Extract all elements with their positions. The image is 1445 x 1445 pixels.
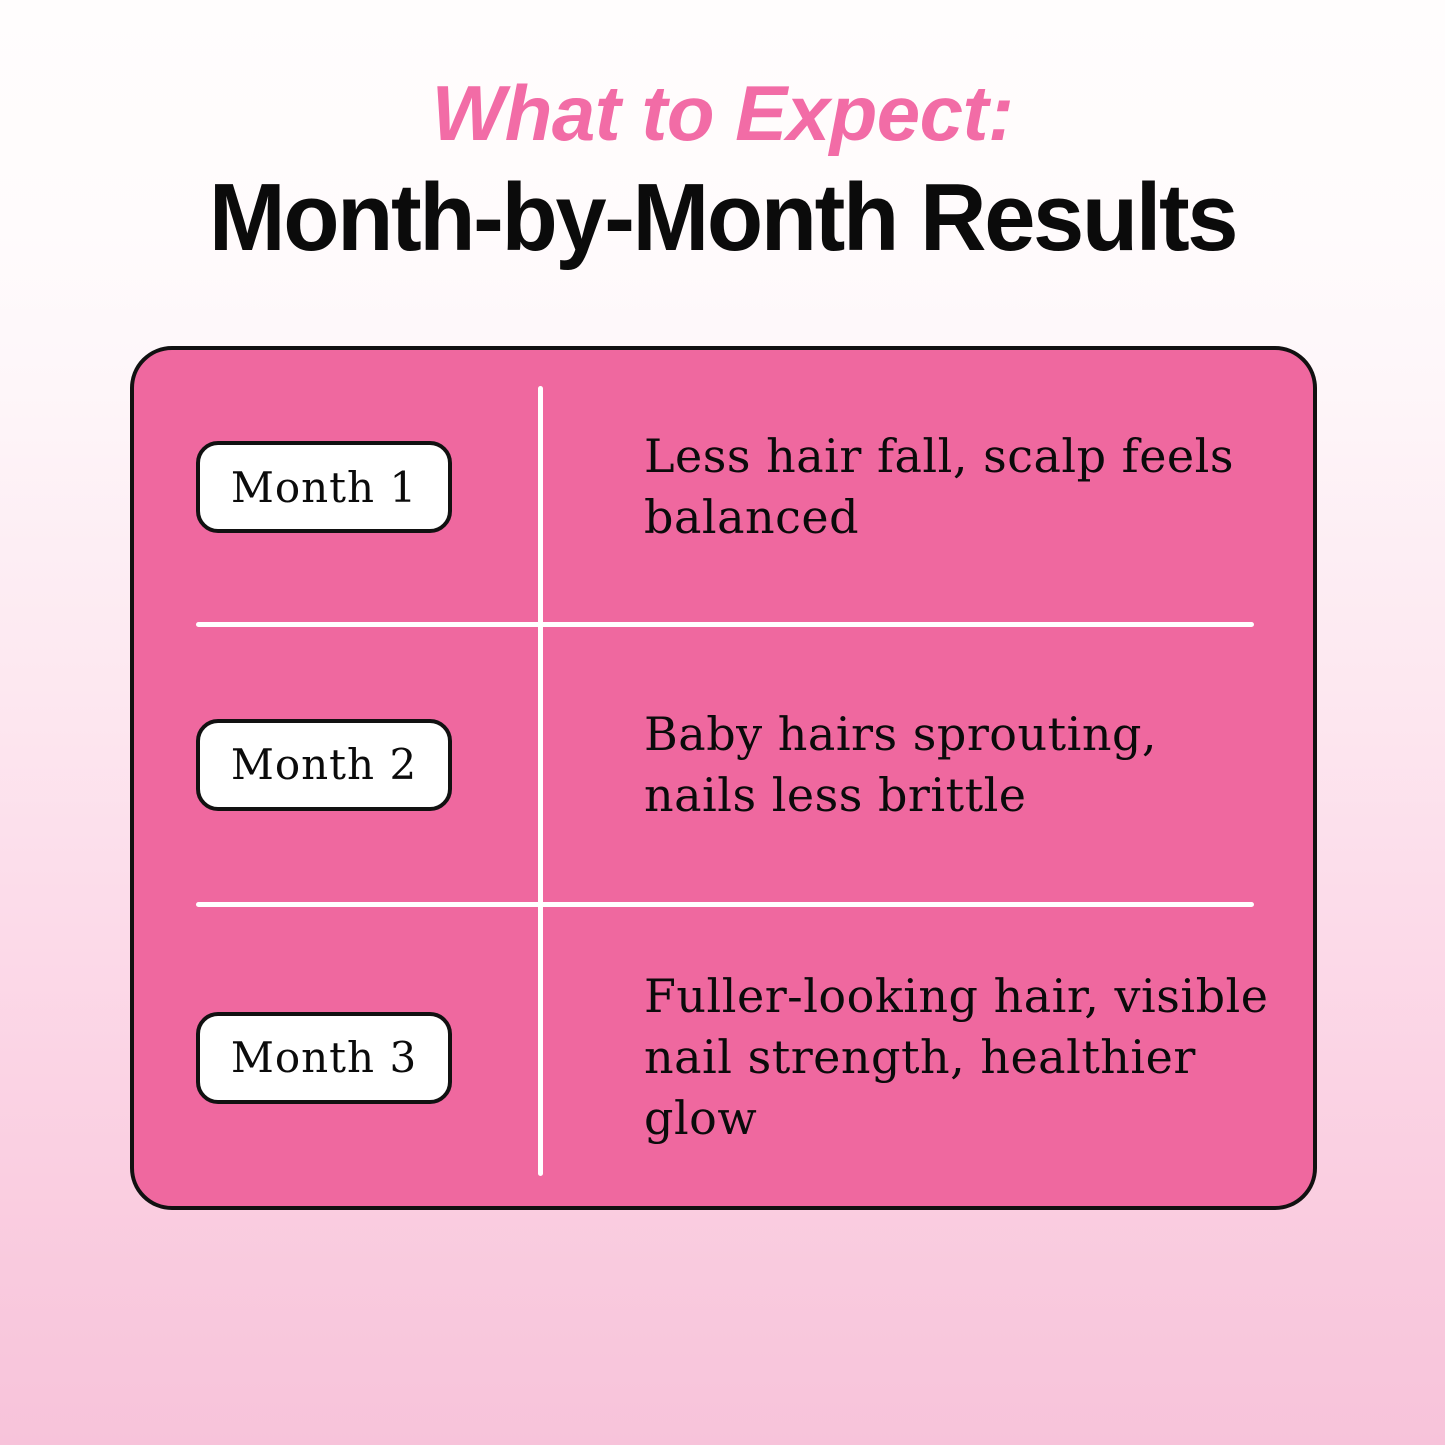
table-row: Month 2 Baby hairs sprouting, nails less… <box>134 627 1313 902</box>
month-badge[interactable]: Month 1 <box>196 441 452 533</box>
results-card: Month 1 Less hair fall, scalp feels bala… <box>130 346 1317 1210</box>
poster-canvas: What to Expect: Month-by-Month Results M… <box>0 0 1445 1445</box>
heading-block: What to Expect: Month-by-Month Results <box>0 74 1445 266</box>
results-table: Month 1 Less hair fall, scalp feels bala… <box>134 350 1313 1206</box>
row-description: Less hair fall, scalp feels balanced <box>644 426 1273 547</box>
row-label-cell: Month 2 <box>134 719 538 811</box>
row-description: Fuller-looking hair, visible nail streng… <box>644 966 1273 1148</box>
table-row: Month 1 Less hair fall, scalp feels bala… <box>134 350 1313 624</box>
row-text-cell: Fuller-looking hair, visible nail streng… <box>538 966 1313 1148</box>
row-label-cell: Month 3 <box>134 1012 538 1104</box>
eyebrow-title: What to Expect: <box>0 74 1445 152</box>
row-description: Baby hairs sprouting, nails less brittle <box>644 704 1273 825</box>
month-badge[interactable]: Month 3 <box>196 1012 452 1104</box>
page-title: Month-by-Month Results <box>29 170 1416 266</box>
row-label-cell: Month 1 <box>134 441 538 533</box>
row-text-cell: Less hair fall, scalp feels balanced <box>538 426 1313 547</box>
row-text-cell: Baby hairs sprouting, nails less brittle <box>538 704 1313 825</box>
month-badge[interactable]: Month 2 <box>196 719 452 811</box>
table-row: Month 3 Fuller-looking hair, visible nai… <box>134 905 1313 1210</box>
